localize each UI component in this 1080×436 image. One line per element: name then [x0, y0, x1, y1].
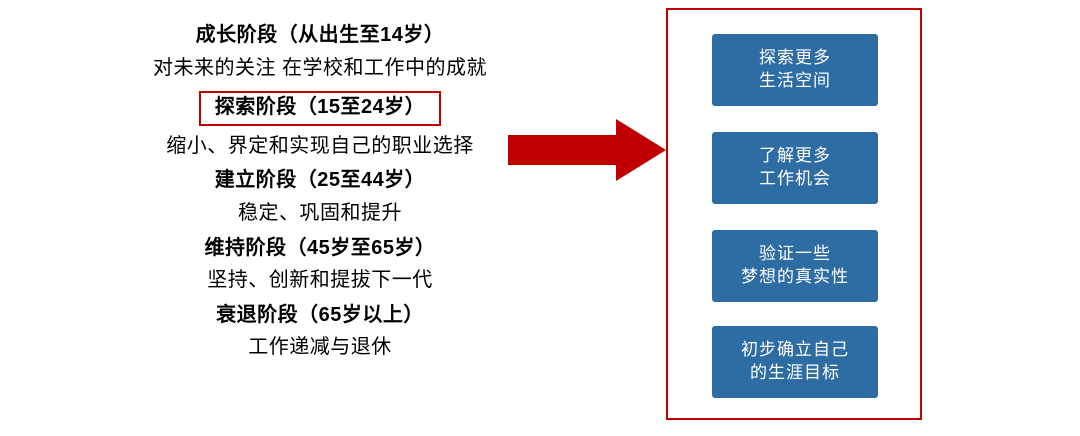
outcome-box-2: 了解更多 工作机会	[712, 132, 878, 204]
stage-title-establishment: 建立阶段（25至44岁）	[60, 169, 580, 193]
outcome-box-3-line-1: 验证一些	[759, 243, 831, 266]
outcome-box-1: 探索更多 生活空间	[712, 34, 878, 106]
outcome-box-4: 初步确立自己 的生涯目标	[712, 326, 878, 398]
stage-title-maintenance: 维持阶段（45岁至65岁）	[60, 237, 580, 261]
outcome-box-2-line-2: 工作机会	[759, 168, 831, 191]
stage-desc-establishment: 稳定、巩固和提升	[60, 202, 580, 226]
outcome-box-1-line-2: 生活空间	[759, 70, 831, 93]
outcome-box-3: 验证一些 梦想的真实性	[712, 230, 878, 302]
outcome-box-2-line-1: 了解更多	[759, 145, 831, 168]
stage-desc-exploration: 缩小、界定和实现自己的职业选择	[60, 135, 580, 159]
career-stage-list: 成长阶段（从出生至14岁） 对未来的关注 在学校和工作中的成就 探索阶段（15至…	[60, 24, 580, 360]
outcome-box-4-line-1: 初步确立自己	[741, 339, 849, 362]
stage-title-exploration-container: 探索阶段（15至24岁）	[60, 91, 580, 126]
right-arrow-icon	[508, 119, 666, 181]
outcome-box-1-line-1: 探索更多	[759, 47, 831, 70]
diagram-canvas: 成长阶段（从出生至14岁） 对未来的关注 在学校和工作中的成就 探索阶段（15至…	[0, 0, 1080, 436]
exploration-outcomes-panel: 探索更多 生活空间 了解更多 工作机会 验证一些 梦想的真实性 初步确立自己 的…	[666, 8, 922, 420]
stage-desc-decline: 工作递减与退休	[60, 336, 580, 360]
stage-desc-maintenance: 坚持、创新和提拔下一代	[60, 269, 580, 293]
stage-title-exploration: 探索阶段（15至24岁）	[199, 91, 442, 126]
stage-desc-growth: 对未来的关注 在学校和工作中的成就	[60, 57, 580, 81]
outcome-box-3-line-2: 梦想的真实性	[741, 266, 849, 289]
stage-title-growth: 成长阶段（从出生至14岁）	[60, 24, 580, 48]
outcome-box-4-line-2: 的生涯目标	[750, 362, 840, 385]
stage-title-decline: 衰退阶段（65岁以上）	[60, 304, 580, 328]
